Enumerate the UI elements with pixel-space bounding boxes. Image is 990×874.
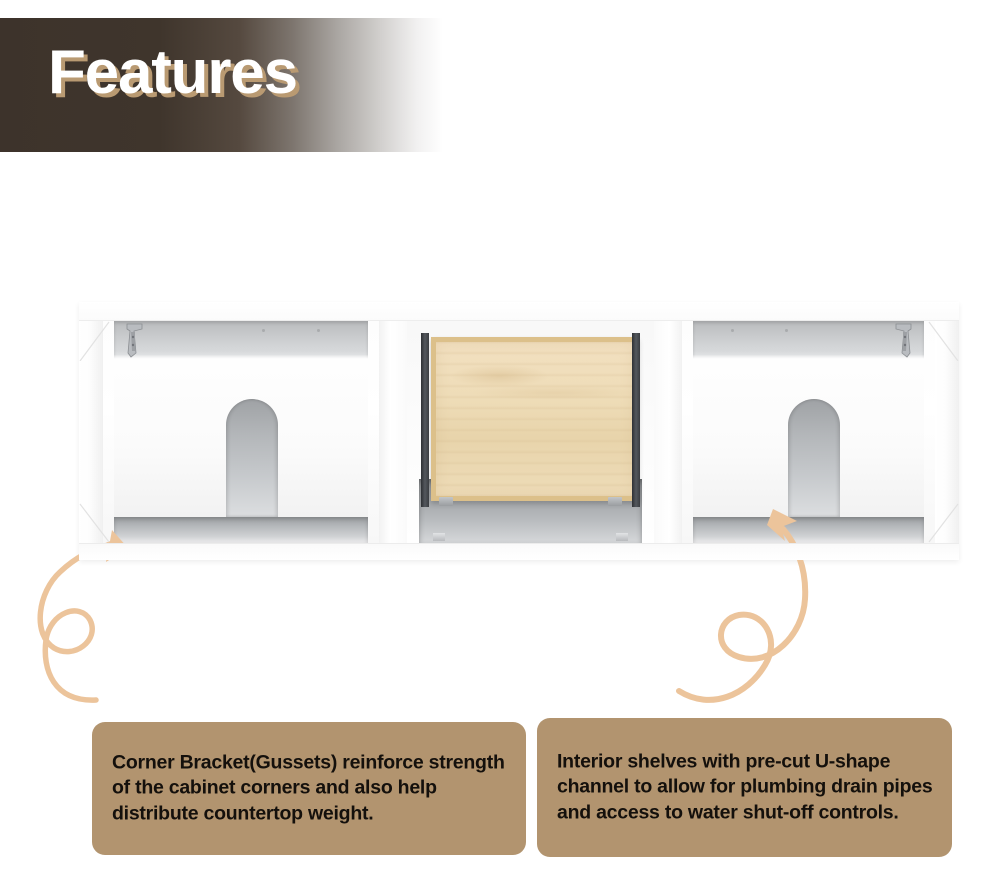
right-upper-recess [693,321,924,359]
screw-dot [317,329,320,332]
caption-box-corner-bracket: Corner Bracket(Gussets) reinforce streng… [92,722,526,855]
caption-right-text: Interior shelves with pre-cut U-shape ch… [557,749,939,826]
center-drawer-compartment [407,321,654,543]
left-upper-recess [114,321,368,359]
right-floor-shadow [693,517,924,543]
cabinet-right-stile [935,321,959,543]
right-shelf [693,359,924,517]
drawer-mount-bracket [439,497,453,506]
u-shape-channel-cutout [226,399,278,517]
cabinet-center-right-stile [654,321,682,543]
caption-box-interior-shelves: Interior shelves with pre-cut U-shape ch… [537,718,952,857]
feature-infographic-page: Features [0,0,990,874]
screw-dot [785,329,788,332]
drawer-mount-bracket [608,497,622,506]
left-compartment [103,321,379,543]
corner-gusset-bracket-icon [893,323,913,359]
u-shape-channel-cutout [788,399,840,517]
drawer-slide-rail-left [421,333,429,507]
product-image-cabinet [79,302,959,560]
cabinet-top-rail [79,302,959,321]
screw-dot [262,329,265,332]
right-compartment [682,321,935,543]
screw-dot [731,329,734,332]
left-floor-shadow [114,517,368,543]
wood-grain-texture [436,342,634,496]
left-shelf [114,359,368,517]
cabinet-center-left-stile [379,321,407,543]
hinge-tab [433,533,445,541]
cabinet-left-stile [79,321,103,543]
caption-left-text: Corner Bracket(Gussets) reinforce streng… [112,750,513,827]
hinge-tab [616,533,628,541]
wood-drawer-box [431,337,639,501]
page-title: Features [48,42,297,104]
corner-gusset-bracket-icon [125,323,145,359]
cabinet-base-rail [79,543,959,560]
drawer-slide-rail-right [632,333,640,507]
